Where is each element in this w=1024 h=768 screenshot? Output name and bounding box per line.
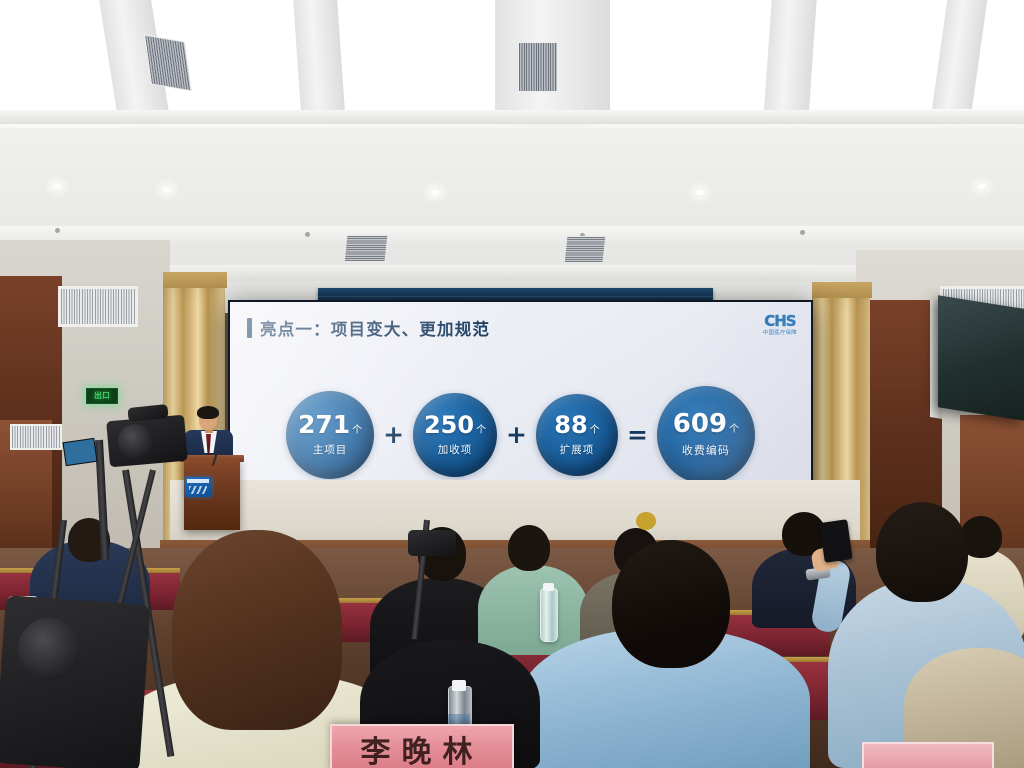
stat-label: 收费编码 [682, 442, 730, 458]
camera-lens-icon [118, 424, 152, 458]
conference-room-photo: 出口 亮点一：项目变大、更加规范 CHS 中国医疗保障 271 个 主项目 [0, 0, 1024, 768]
sprinkler-icon [800, 230, 805, 235]
sprinkler-icon [55, 228, 60, 233]
exit-sign: 出口 [86, 388, 118, 404]
chs-logo: CHS 中国医疗保障 [763, 314, 797, 336]
desk-name-card-secondary [862, 742, 994, 768]
stat-value: 609 [673, 411, 727, 437]
water-bottle [540, 588, 558, 642]
camera-monitor [62, 438, 97, 466]
audience-person-head [612, 540, 730, 668]
stat-label: 扩展项 [560, 442, 595, 457]
audience-person-head [508, 525, 550, 571]
stat-value-group: 271 个 [298, 412, 362, 437]
curtain-rail-left [163, 272, 227, 288]
stat-unit: 个 [729, 425, 739, 435]
audience-person [478, 565, 588, 655]
slide-title-row: 亮点一：项目变大、更加规范 [247, 316, 490, 340]
camera-lens-icon [18, 618, 80, 680]
stat-value-group: 250 个 [424, 413, 486, 437]
slide-equation-row: 271 个 主项目 + 250 个 加收项 + 88 个 扩展项 [230, 372, 811, 497]
air-vent-icon [564, 236, 607, 263]
bottle-cap [543, 583, 554, 591]
operator-plus-1: + [382, 422, 405, 447]
operator-equals: = [626, 422, 649, 447]
stat-bubble-surcharge-items: 250 个 加收项 [413, 393, 497, 477]
operator-plus-2: + [505, 422, 528, 447]
stat-value-group: 88 个 [554, 413, 599, 437]
ceiling-light-panel [328, 0, 507, 111]
stat-unit: 个 [590, 426, 600, 436]
chs-logo-mark: CHS [763, 314, 797, 329]
downlight-icon [50, 182, 64, 191]
stat-bubble-billing-codes: 609 个 收费编码 [657, 386, 755, 484]
curtain-rail-right [812, 282, 872, 298]
downlight-icon [693, 188, 707, 197]
exit-sign-label: 出口 [94, 392, 110, 400]
ceiling-beam [764, 0, 817, 111]
sprinkler-icon [305, 232, 310, 237]
stat-value: 88 [554, 413, 587, 437]
ceiling-light-panel [598, 0, 782, 109]
air-vent-icon [144, 34, 192, 91]
stat-value: 271 [298, 412, 350, 437]
stat-value: 250 [424, 413, 474, 437]
stat-label: 加收项 [438, 442, 473, 457]
air-vent-icon [518, 42, 558, 92]
slide-title: 亮点一：项目变大、更加规范 [260, 316, 490, 340]
podium-sign [185, 477, 212, 497]
audience-person-hair [172, 530, 342, 730]
stat-bubble-main-items: 271 个 主项目 [286, 391, 374, 479]
stat-unit: 个 [352, 426, 362, 436]
air-vent-icon [344, 235, 389, 262]
ceiling-beam [293, 0, 345, 115]
title-accent-bar [247, 318, 252, 338]
desk-name-card: 李晚林 [330, 724, 514, 768]
smartphone [819, 519, 852, 563]
microphone-boom [408, 530, 456, 556]
stat-bubble-extension-items: 88 个 扩展项 [536, 394, 618, 476]
audience-person-head [876, 502, 968, 602]
hair-ornament [636, 512, 656, 530]
stat-label: 主项目 [313, 442, 348, 457]
downlight-icon [428, 188, 442, 197]
downlight-icon [975, 182, 989, 191]
chs-logo-subtitle: 中国医疗保障 [763, 331, 797, 336]
wall-grille-icon [10, 424, 62, 450]
wall-speaker-panel [938, 295, 1024, 421]
ceiling-light-panel [795, 0, 955, 107]
bottle-cap [452, 680, 466, 691]
camera-rig-foreground [0, 595, 151, 768]
stat-value-group: 609 个 [673, 411, 739, 437]
desk-name-card-text: 李晚林 [361, 727, 484, 768]
ceiling-cornice [0, 110, 1024, 124]
speaker-hair [197, 406, 219, 419]
stat-unit: 个 [476, 426, 486, 436]
wall-grille-icon [58, 286, 138, 327]
downlight-icon [160, 185, 174, 194]
